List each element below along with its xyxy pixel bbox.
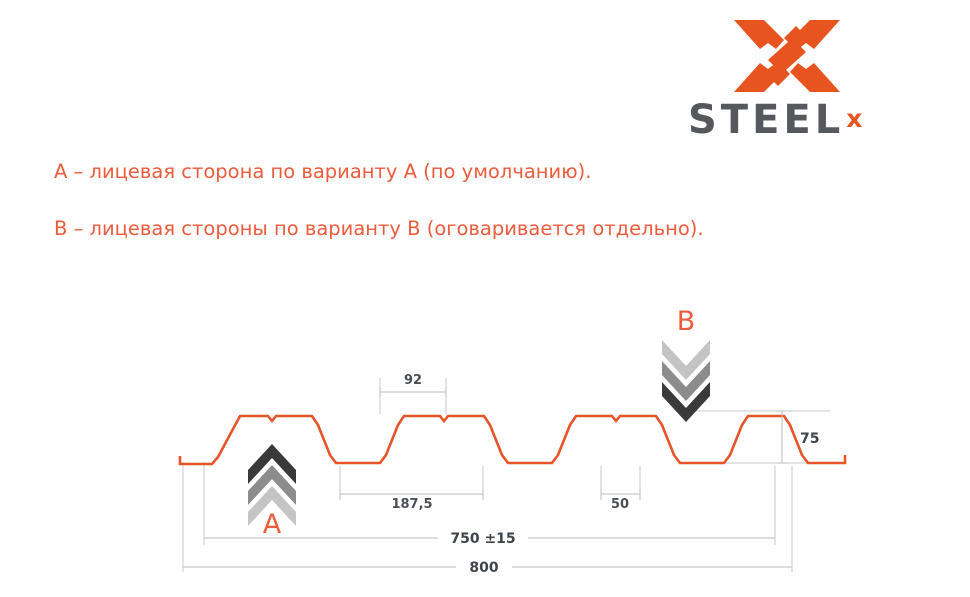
marker-a-label: A xyxy=(263,509,282,540)
marker-b: B xyxy=(662,306,710,422)
dim-height: 75 xyxy=(777,411,819,463)
marker-b-label: B xyxy=(677,306,696,337)
dim-useful-width-label: 750 ±15 xyxy=(450,531,515,547)
marker-a: A xyxy=(248,444,296,540)
dim-valley-label: 50 xyxy=(611,497,629,512)
dim-pitch-label: 187,5 xyxy=(391,497,432,512)
dim-pitch: 187,5 xyxy=(340,489,483,512)
dim-useful-width: 750 ±15 xyxy=(204,531,775,547)
dim-height-label: 75 xyxy=(800,431,819,447)
dim-total-width: 800 xyxy=(183,560,792,576)
dim-total-width-label: 800 xyxy=(469,560,498,576)
dim-crest-width: 92 xyxy=(380,373,446,397)
chevron-down-icon xyxy=(662,340,710,422)
profile-technical-drawing: 92 187,5 50 750 ±15 800 75 xyxy=(0,0,970,597)
dim-valley: 50 xyxy=(601,489,640,512)
dim-crest-width-label: 92 xyxy=(404,373,422,388)
